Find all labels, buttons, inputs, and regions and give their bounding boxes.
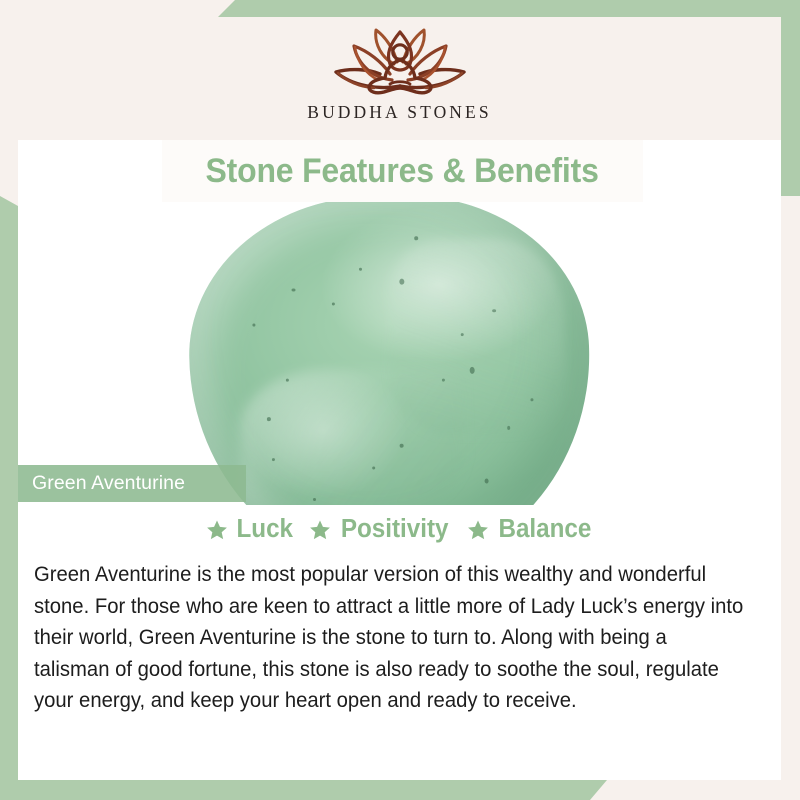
stone-name-badge: Green Aventurine (18, 465, 246, 502)
benefit-item-balance: Balance (467, 515, 594, 544)
benefits-row: Luck Positivity Balance (18, 515, 781, 544)
star-icon (206, 519, 228, 541)
benefit-label: Luck (236, 515, 293, 544)
benefit-item-positivity: Positivity (309, 515, 451, 544)
frame-accent-bottom-left (0, 780, 607, 800)
stone-photo (18, 202, 781, 505)
section-title-banner: Stone Features & Benefits (162, 140, 643, 202)
frame-accent-right (781, 0, 800, 196)
benefit-item-luck: Luck (206, 515, 295, 544)
brand-wordmark: BUDDHA STONES (307, 102, 491, 123)
brand-header: BUDDHA STONES (18, 17, 781, 140)
poster-root: BUDDHA STONES Stone Features & Benefits (0, 0, 800, 800)
page-title: Stone Features & Benefits (206, 152, 599, 191)
green-aventurine-stone (185, 202, 595, 505)
frame-accent-top-right (218, 0, 800, 17)
stone-name-label: Green Aventurine (32, 472, 185, 495)
star-icon (467, 519, 489, 541)
stone-description: Green Aventurine is the most popular ver… (34, 559, 743, 717)
benefit-label: Balance (498, 515, 591, 544)
frame-accent-left (0, 196, 18, 800)
content-card: BUDDHA STONES Stone Features & Benefits (18, 17, 781, 780)
lotus-meditation-icon (316, 24, 484, 100)
star-icon (309, 519, 331, 541)
benefit-label: Positivity (341, 515, 449, 544)
stone-image-wrap (18, 202, 781, 505)
